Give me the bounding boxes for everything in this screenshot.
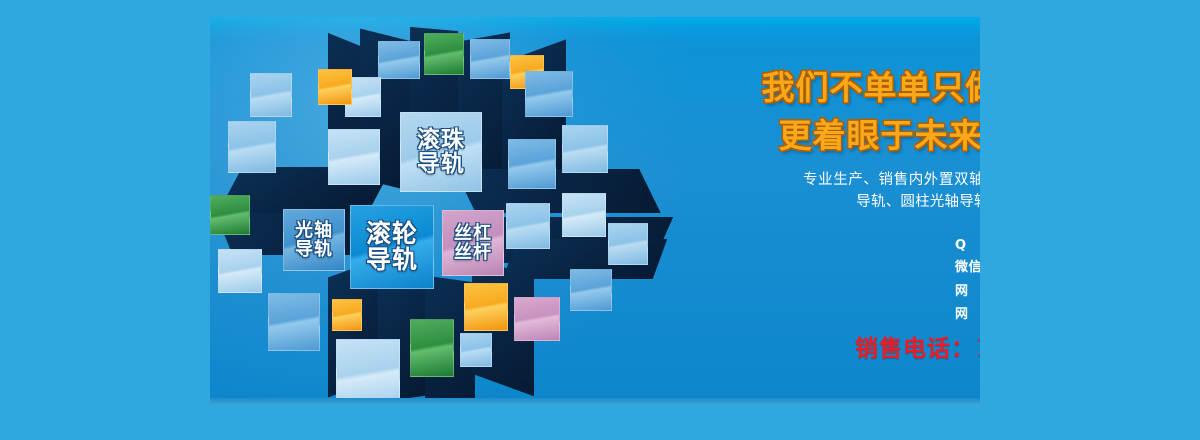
product-label-sigang-sigan[interactable]: 丝杠 丝杆 [442,210,504,276]
decorative-cube [525,71,573,117]
cube-burst-graphic: 滚珠 导轨 光轴 导轨 滚轮 导轨 丝杠 丝杆 [210,17,680,405]
headline-line-1: 我们不单单只做您目前的订单 [755,61,980,109]
contact-label: 网 址： [955,281,980,303]
contact-info-block: Q Q： 80286553 微信号： zxdgzc （直线导轨轴承） 网 址： … [955,235,980,326]
product-label-guangzhou-daogui[interactable]: 光轴 导轨 [283,209,345,271]
product-label-gunzhu-daogui[interactable]: 滚珠 导轨 [400,112,482,192]
decorative-cube [464,283,508,331]
sales-phone-block: 销售电话： 18357860469 [855,329,980,363]
company-description: 专业生产、销售内外置双轴心滚轮直线导轨、滚珠直线导轨、圆柱光轴导轨、丝杠丝杆、直… [803,169,980,213]
decorative-cube [424,33,464,75]
contact-row-qq: Q Q： 80286553 [955,235,980,257]
product-label-gunlun-daogui[interactable]: 滚轮 导轨 [350,205,434,289]
product-label-line1: 滚轮 [366,221,418,248]
product-label-line1: 滚珠 [417,128,465,152]
contact-label: 微信号： [955,257,980,279]
contact-row-wechat: 微信号： zxdgzc （直线导轨轴承） [955,257,980,280]
decorative-cube [318,69,352,105]
decorative-cube [332,299,362,331]
product-label-line2: 导轨 [417,152,465,176]
decorative-cube [608,223,648,265]
decorative-cube [210,195,250,235]
banner-copy-block: 我们不单单只做您目前的订单 更着眼于未来与您长期合作 专业生产、销售内外置双轴心… [755,17,980,405]
product-label-line2: 导轨 [295,240,333,259]
sales-phone-label: 销售电话： [855,329,975,363]
decorative-cube [460,333,492,367]
decorative-cube [336,339,400,405]
decorative-cube [268,293,320,351]
panel-bottom-stripe [210,398,980,405]
cube-shard [454,169,660,213]
decorative-cube [250,73,292,117]
decorative-cube [508,139,556,189]
decorative-cube [378,41,420,79]
decorative-cube [562,193,606,237]
decorative-cube [328,129,380,185]
headline-line-2: 更着眼于未来与您长期合作 [755,109,980,157]
product-label-line1: 丝杠 [454,224,492,243]
sales-phone-number[interactable]: 18357860469 [975,333,980,363]
decorative-cube [506,203,550,249]
promo-banner: 滚珠 导轨 光轴 导轨 滚轮 导轨 丝杠 丝杆 [0,0,1200,440]
contact-label: Q Q： [955,235,980,257]
decorative-cube [410,319,454,377]
decorative-cube [514,297,560,341]
decorative-cube [218,249,262,293]
decorative-cube [562,125,608,173]
contact-row-website-1: 网 址： Www.Zxdgzc.Com [955,280,980,303]
product-label-line2: 丝杆 [454,243,492,262]
contact-row-website-2: 网 址： Www.Cnzxdg.Com [955,303,980,326]
product-label-line2: 导轨 [366,247,418,274]
product-label-line1: 光轴 [295,221,333,240]
decorative-cube [228,121,276,173]
decorative-cube [570,269,612,311]
contact-label: 网 址： [955,304,980,326]
banner-inner-panel: 滚珠 导轨 光轴 导轨 滚轮 导轨 丝杠 丝杆 [210,17,980,405]
decorative-cube [470,39,510,79]
